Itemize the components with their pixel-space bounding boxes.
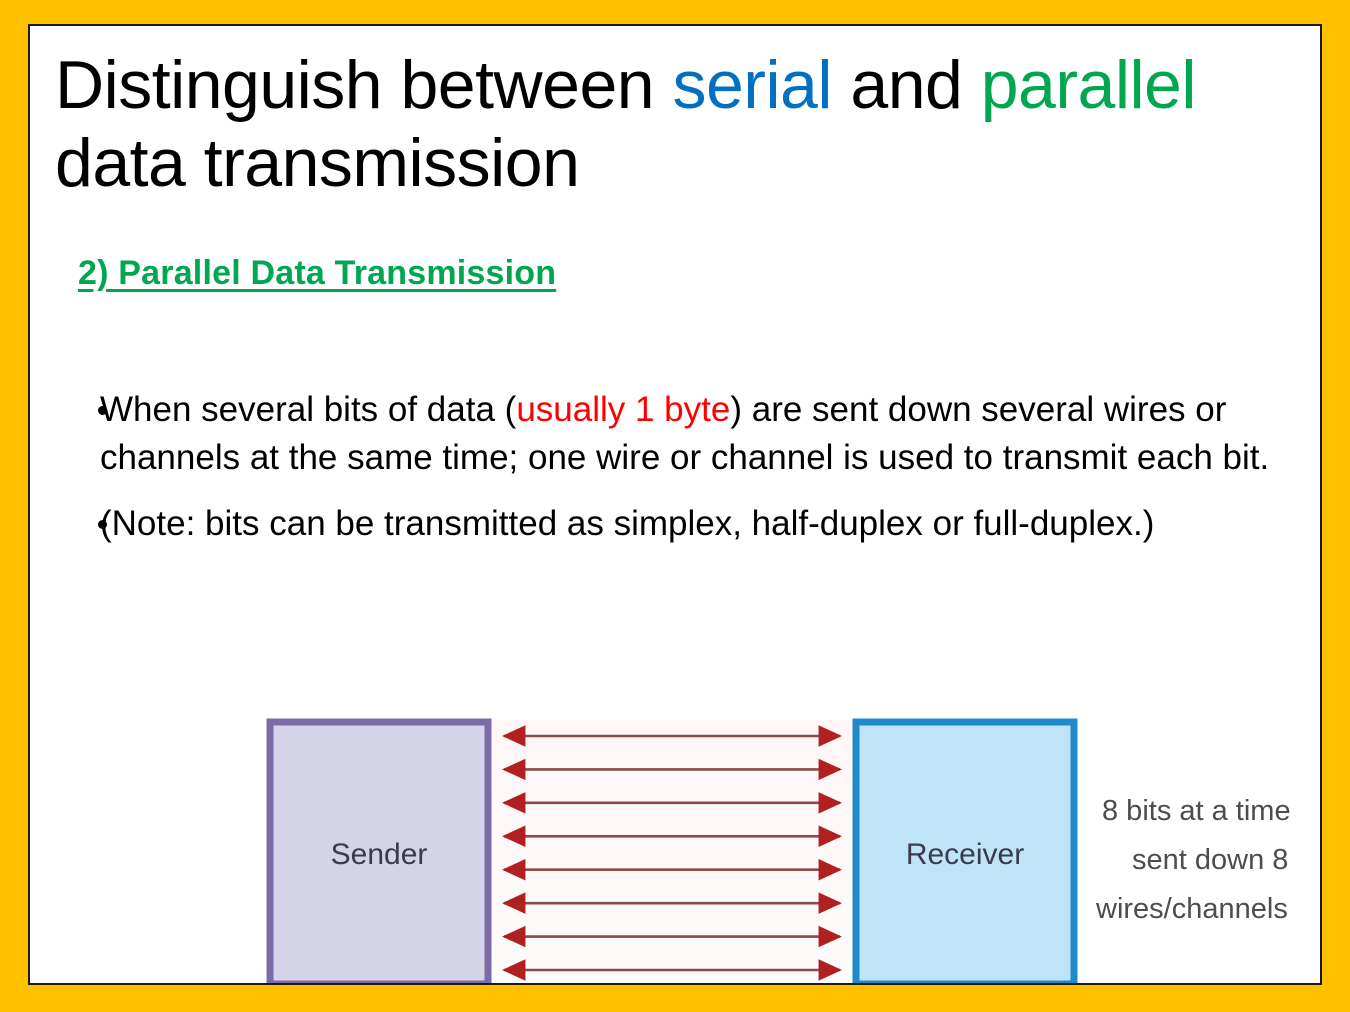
bullet-1-seg-2-highlight: usually 1 byte [516,390,730,429]
sender-box: Sender [270,722,488,984]
diagram-caption: 8 bits at a time sent down 8 wires/chann… [1095,795,1291,925]
bullet-text: When several bits of data (usually 1 byt… [100,386,1320,482]
bullet-1-seg-1: When several bits of data ( [100,390,516,429]
bullet-dot-icon [98,520,107,529]
page-title: Distinguish between serial and parallel … [55,46,1295,202]
list-item: (Note: bits can be transmitted as simple… [70,500,1320,548]
wire-channel-background [488,720,856,985]
sender-box-label: Sender [331,838,428,871]
list-item: When several bits of data (usually 1 byt… [70,386,1320,482]
bullet-text: (Note: bits can be transmitted as simple… [100,500,1320,548]
bullet-dot-icon [98,406,107,415]
title-part-2: and [832,47,981,123]
section-subheading: 2) Parallel Data Transmission [78,254,556,293]
title-part-1: Distinguish between [55,47,672,123]
caption-line-1: 8 bits at a time [1102,795,1291,827]
title-word-serial: serial [672,47,832,123]
diagram-svg: Sender Receiver 8 bits at a time sent do… [240,698,1322,985]
bullet-list: When several bits of data (usually 1 byt… [70,386,1320,566]
receiver-box: Receiver [856,722,1074,984]
parallel-transmission-diagram: Sender Receiver 8 bits at a time sent do… [240,698,1322,985]
caption-line-2: sent down 8 [1132,844,1288,876]
slide-outer-frame: Distinguish between serial and parallel … [0,0,1350,1012]
caption-line-3: wires/channels [1095,893,1288,925]
bullet-2-seg-1: (Note: bits can be transmitted as simple… [100,504,1154,543]
receiver-box-label: Receiver [906,838,1024,871]
slide-canvas: Distinguish between serial and parallel … [28,24,1322,985]
title-word-parallel: parallel [981,47,1196,123]
title-part-3: data transmission [55,125,579,201]
